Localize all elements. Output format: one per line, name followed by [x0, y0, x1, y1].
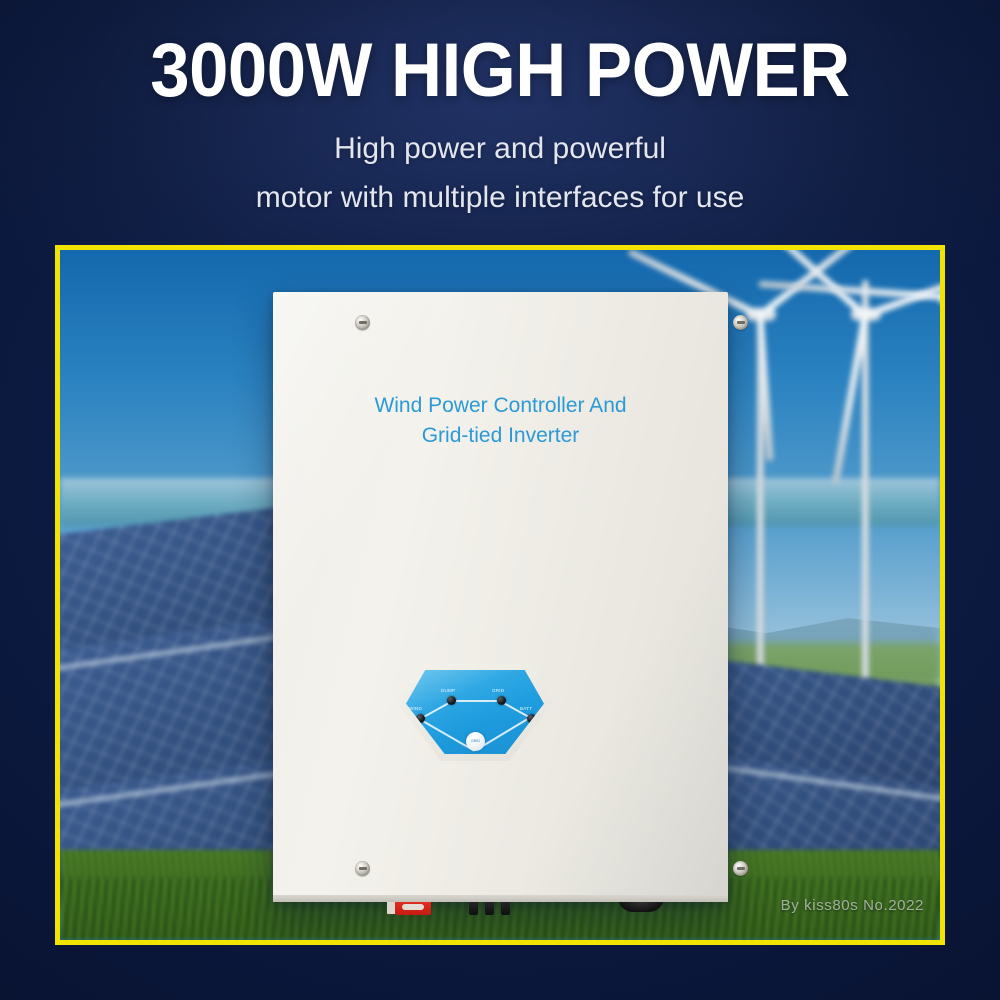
device-bottom-edge — [273, 895, 728, 902]
panel-hub-label: GRID — [466, 732, 485, 751]
product-device: Wind Power Controller And Grid-tied Inve… — [273, 292, 728, 902]
page-title: 3000W HIGH POWER — [35, 33, 965, 109]
screw-bottom-left — [355, 861, 370, 876]
device-label: Wind Power Controller And Grid-tied Inve… — [273, 391, 728, 451]
device-label-line-2: Grid-tied Inverter — [273, 421, 728, 451]
product-photo-frame: Wind Power Controller And Grid-tied Inve… — [55, 245, 945, 945]
panel-label-grid: GRID — [492, 688, 504, 693]
led-indicator-dump — [447, 696, 456, 705]
scene-photo: Wind Power Controller And Grid-tied Inve… — [60, 250, 940, 940]
device-label-line-1: Wind Power Controller And — [273, 391, 728, 421]
panel-label-dump: DUMP — [441, 688, 455, 693]
panel-label-batt: BATT — [520, 706, 532, 711]
screw-bottom-right — [733, 861, 748, 876]
subtitle-line-2: motor with multiple interfaces for use — [0, 183, 1000, 213]
device-sheen — [273, 292, 728, 902]
panel-wire — [451, 700, 501, 702]
screw-top-right — [733, 315, 748, 330]
product-banner-page: 3000W HIGH POWER High power and powerful… — [0, 0, 1000, 1000]
screw-top-left — [355, 315, 370, 330]
watermark: By kiss80s No.2022 — [781, 897, 924, 914]
subtitle-line-1: High power and powerful — [0, 134, 1000, 164]
led-indicator-grid — [497, 696, 506, 705]
